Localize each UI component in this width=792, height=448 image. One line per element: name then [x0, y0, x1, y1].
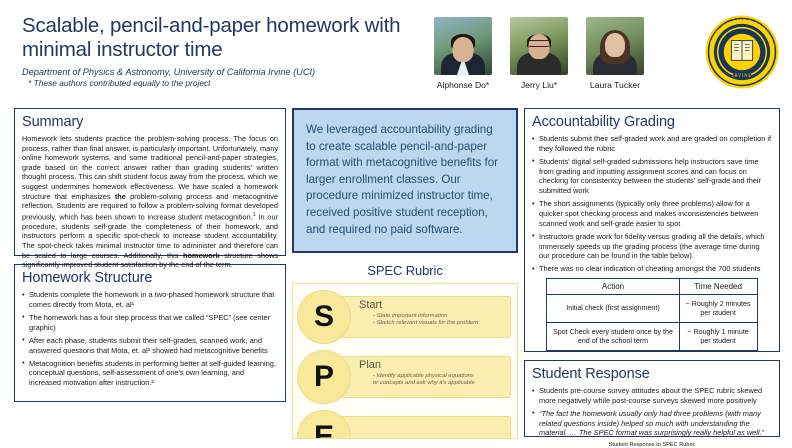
- spec-letter-badge: E: [297, 410, 351, 439]
- table-cell-action: Initial check (first assignment): [547, 295, 679, 323]
- table-cell-time: ~ Roughly 2 minutes per student: [679, 295, 757, 323]
- student-response-heading: Student Response: [532, 366, 772, 383]
- spec-letter-badge: S: [297, 290, 351, 344]
- right-column: Accountability Grading Students submit t…: [524, 108, 780, 437]
- key-message-callout: We leveraged accountability grading to c…: [292, 108, 518, 253]
- spec-letter-badge: P: [297, 350, 351, 404]
- spec-step-label: Start: [359, 299, 382, 311]
- spec-sub-item: - Identify applicable physical equations: [373, 373, 507, 380]
- spec-step-details: - State important information - Sketch r…: [373, 313, 507, 328]
- author-card: Laura Tucker: [584, 17, 646, 90]
- list-item: The homework has a four step process tha…: [22, 313, 278, 332]
- callout-text: We leveraged accountability grading to c…: [306, 122, 504, 238]
- list-item-quote: “The fact the homework usually only had …: [532, 409, 772, 438]
- list-item: Instructors grade work for fidelity vers…: [532, 232, 772, 261]
- spec-bar: [327, 416, 511, 439]
- spec-step-details: - Identify applicable physical equations…: [373, 373, 507, 388]
- accountability-list: Students submit their self-graded work a…: [532, 134, 772, 274]
- table-cell-action: Spot Check every student once by the end…: [547, 323, 679, 351]
- list-item: Students submit their self-graded work a…: [532, 134, 772, 153]
- summary-heading: Summary: [22, 114, 278, 131]
- avatar: [510, 17, 568, 75]
- poster-header: Scalable, pencil-and-paper homework with…: [0, 0, 792, 104]
- spec-step-label: Plan: [359, 359, 381, 371]
- author-card: Jerry Liu*: [508, 17, 570, 90]
- list-item: Students' digital self-graded submission…: [532, 157, 772, 196]
- homework-structure-list: Students complete the homework in a two-…: [22, 290, 278, 388]
- accountability-grading-panel: Accountability Grading Students submit t…: [524, 108, 780, 352]
- column-header-action: Action: [547, 279, 679, 295]
- table-cell-time: ~ Roughly 1 minute per student: [679, 323, 757, 351]
- list-item: The short assignments (typically only th…: [532, 199, 772, 228]
- homework-structure-heading: Homework Structure: [22, 270, 278, 287]
- center-column: We leveraged accountability grading to c…: [292, 108, 518, 439]
- poster-canvas: Scalable, pencil-and-paper homework with…: [0, 0, 792, 445]
- avatar: [586, 17, 644, 75]
- author-card: Alphonse Do*: [432, 17, 494, 90]
- spec-rubric-heading: SPEC Rubric: [292, 263, 518, 278]
- summary-bold-1: the: [115, 192, 126, 201]
- svg-text:IRVINE: IRVINE: [732, 74, 752, 79]
- spec-sub-item: or concepts and ask why it's applicable: [373, 380, 507, 387]
- avatar: [434, 17, 492, 75]
- list-item: Metacognition benefits students in perfo…: [22, 359, 278, 388]
- summary-bold-2: homework: [183, 251, 220, 260]
- author-name: Alphonse Do*: [432, 80, 494, 90]
- author-contribution-note: * These authors contributed equally to t…: [22, 78, 422, 89]
- page-title: Scalable, pencil-and-paper homework with…: [22, 14, 422, 62]
- grading-time-table: Action Time Needed Initial check (first …: [546, 278, 757, 351]
- spec-sub-item: - State important information: [373, 313, 507, 320]
- spec-rubric-diagram: Start - State important information - Sk…: [292, 283, 518, 439]
- accountability-heading: Accountability Grading: [532, 114, 772, 131]
- student-response-list: Students pre-course survey attitudes abo…: [532, 386, 772, 438]
- left-column: Summary Homework lets students practice …: [14, 108, 286, 402]
- column-header-time: Time Needed: [679, 279, 757, 295]
- uci-seal-logo: THE UNIVERSITY OF CALIFORNIA IRVINE: [704, 14, 780, 90]
- author-name: Jerry Liu*: [508, 80, 570, 90]
- list-item: Students pre-course survey attitudes abo…: [532, 386, 772, 405]
- table-row: Spot Check every student once by the end…: [547, 323, 757, 351]
- table-header-row: Action Time Needed: [547, 279, 757, 295]
- table-row: Initial check (first assignment) ~ Rough…: [547, 295, 757, 323]
- spec-sub-item: - Sketch relevant visuals for the proble…: [373, 320, 507, 327]
- title-block: Scalable, pencil-and-paper homework with…: [22, 14, 422, 89]
- student-response-panel: Student Response Students pre-course sur…: [524, 360, 780, 437]
- homework-structure-panel: Homework Structure Students complete the…: [14, 264, 286, 402]
- spec-step-execute-partial: E: [293, 410, 517, 439]
- list-item: After each phase, students submit their …: [22, 336, 278, 355]
- author-photo-row: Alphonse Do* Jerry Liu* Laura Tucker: [432, 17, 646, 90]
- author-name: Laura Tucker: [584, 80, 646, 90]
- spec-step-plan: Plan - Identify applicable physical equa…: [293, 350, 517, 406]
- spec-step-start: Start - State important information - Sk…: [293, 290, 517, 346]
- summary-panel: Summary Homework lets students practice …: [14, 108, 286, 256]
- summary-text: Homework lets students practice the prob…: [22, 134, 278, 270]
- affiliation-line: Department of Physics & Astronomy, Unive…: [22, 66, 422, 78]
- list-item: There was no clear indication of cheatin…: [532, 264, 772, 274]
- list-item: Students complete the homework in a two-…: [22, 290, 278, 309]
